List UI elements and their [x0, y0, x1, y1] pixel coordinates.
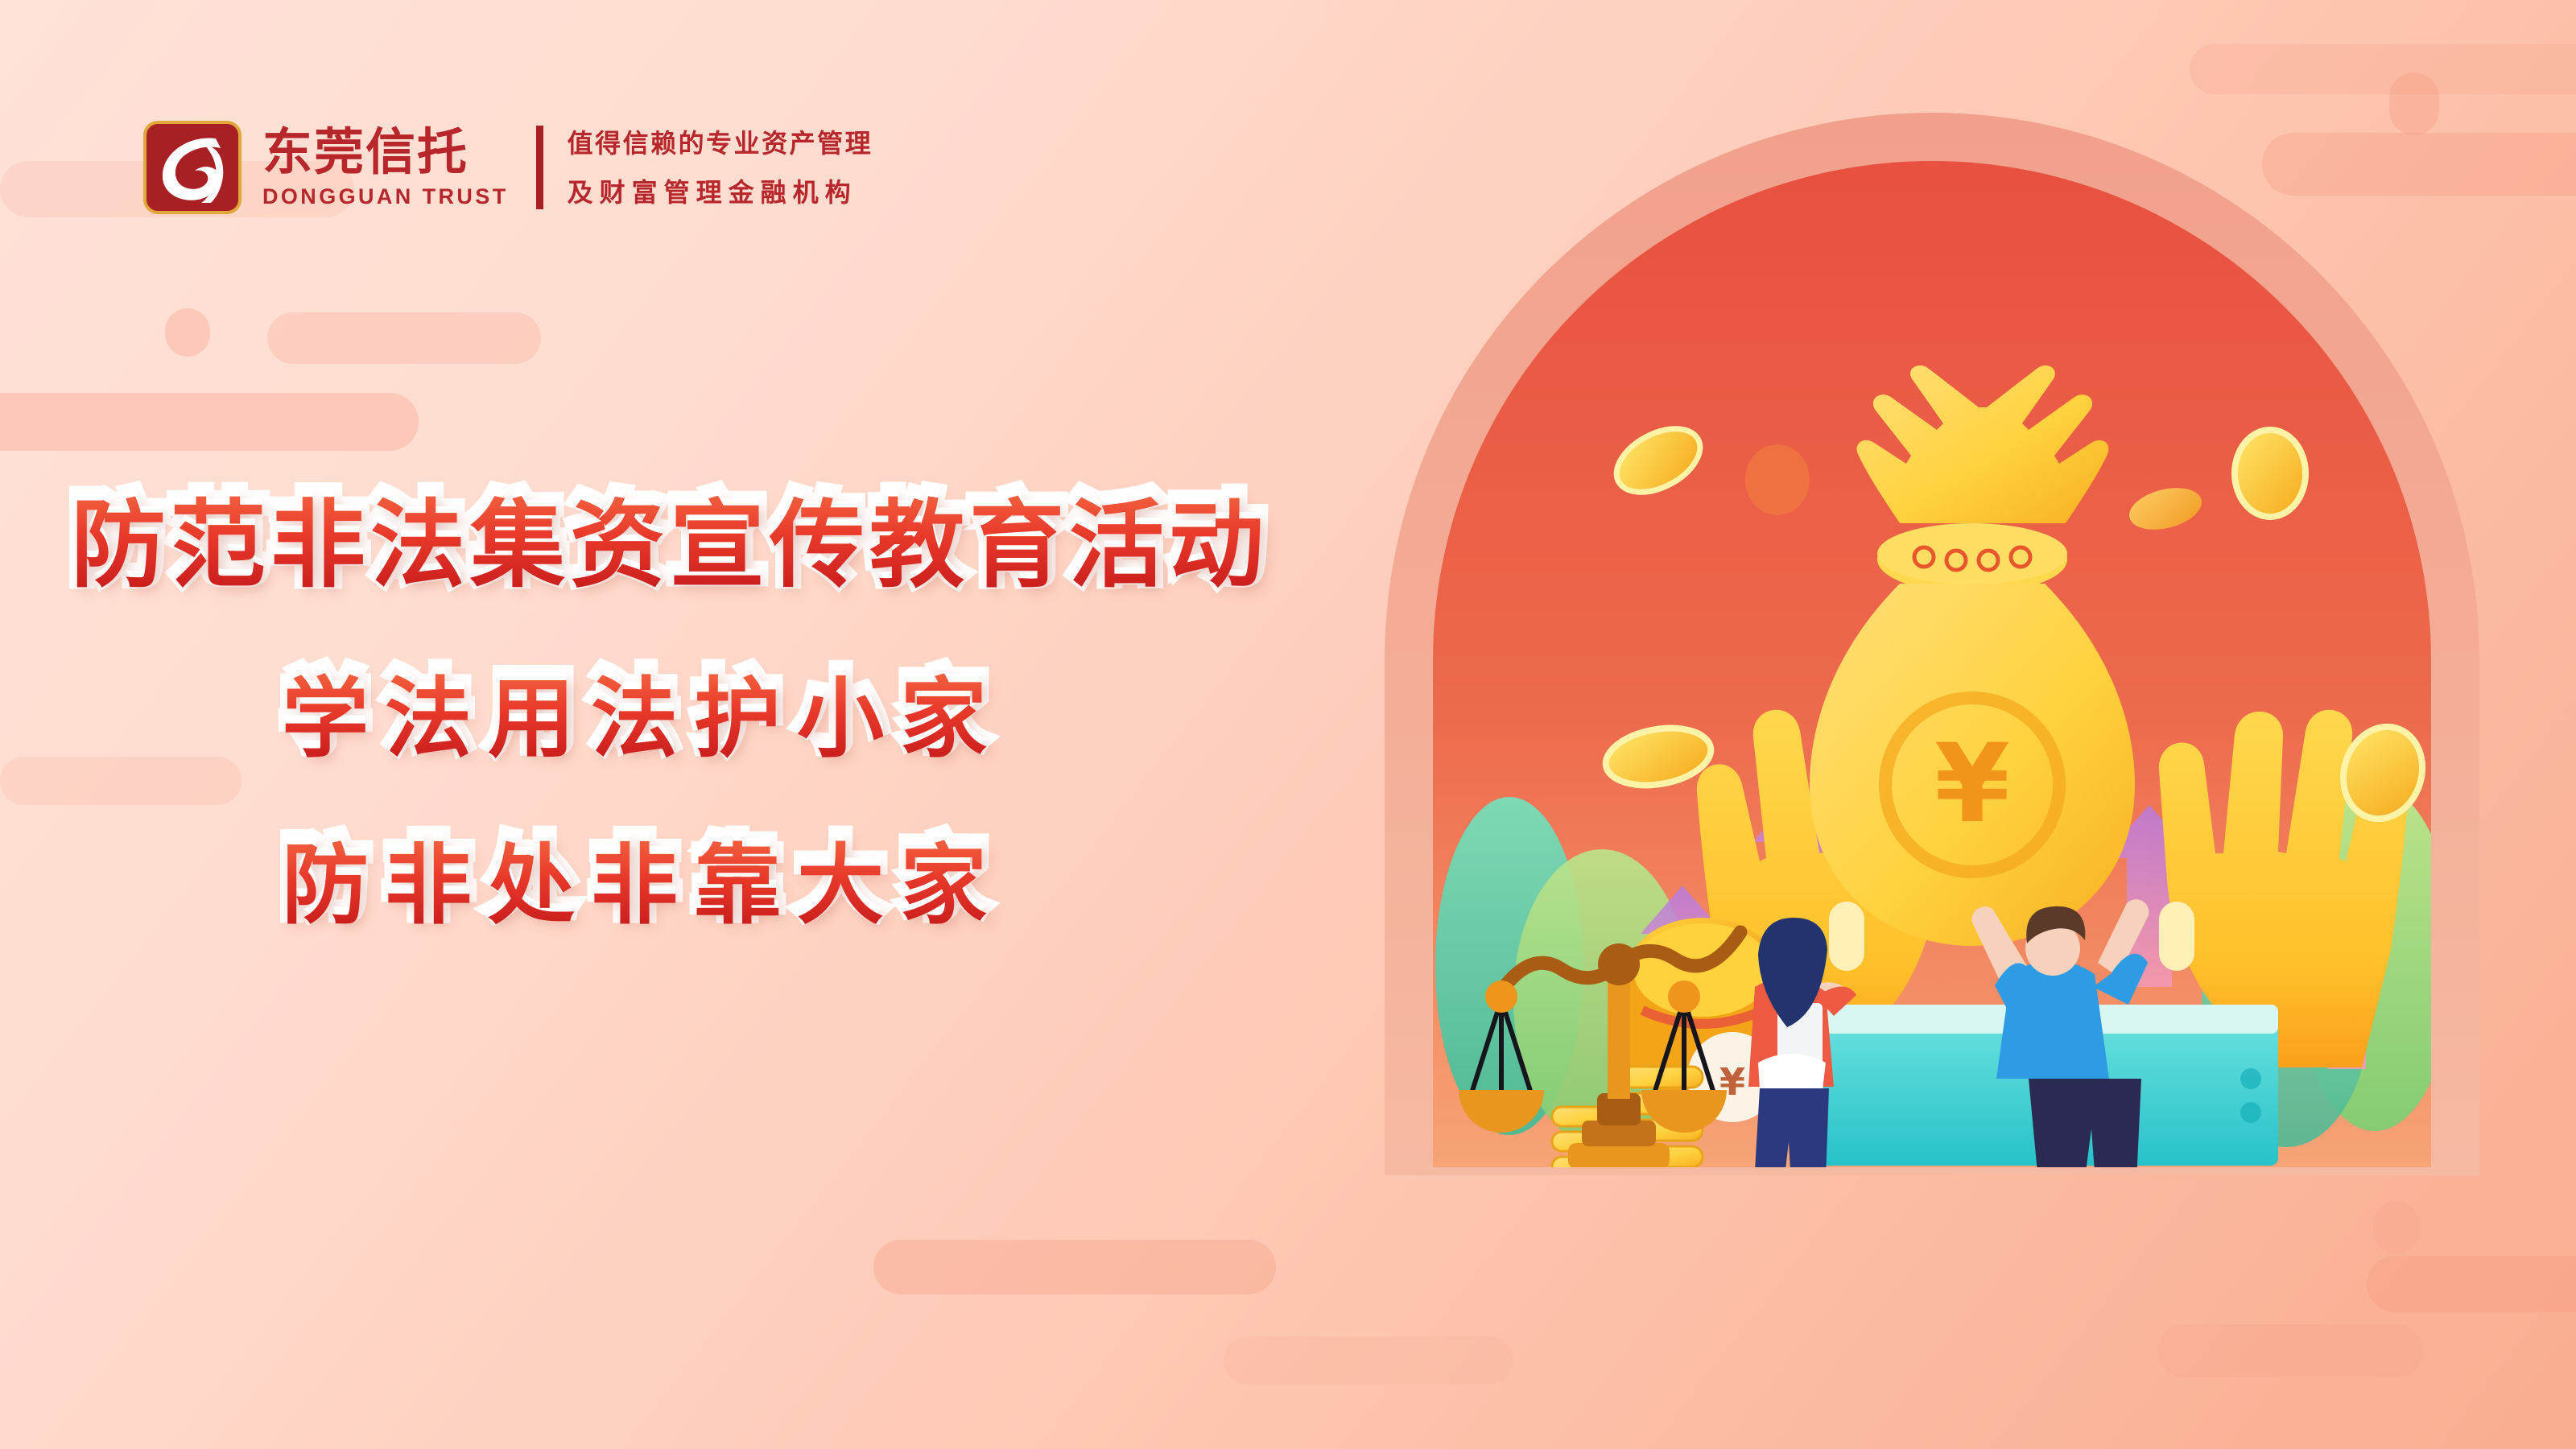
- deco-pill: [873, 1240, 1276, 1294]
- deco-pill: [0, 393, 419, 451]
- promo-banner: ¥ ¥: [0, 0, 2576, 1449]
- tagline-line-1: 值得信赖的专业资产管理: [568, 130, 873, 156]
- headline-line-2: 学法用法护小家: [282, 669, 1003, 770]
- tagline-line-2: 及财富管理金融机构: [568, 180, 873, 205]
- brand-divider: [536, 126, 543, 209]
- brand-name-en: DONGGUAN TRUST: [262, 186, 509, 208]
- headline-group: 防范非法集资宣传教育活动 防范非法集资宣传教育活动 学法用法护小家 学法用法护小…: [0, 491, 1368, 935]
- deco-pill: [2190, 44, 2576, 94]
- headline-line-1: 防范非法集资宣传教育活动: [71, 489, 1269, 601]
- anti-illegal-fundraising-illustration: ¥ ¥: [1336, 97, 2528, 1352]
- headline-row-2: 学法用法护小家 学法用法护小家: [0, 668, 1368, 769]
- brand-tagline: 值得信赖的专业资产管理 及财富管理金融机构: [568, 130, 873, 205]
- headline-row-3: 防非处非靠大家 防非处非靠大家: [0, 835, 1368, 935]
- brand-logo: 东莞信托 DONGGUAN TRUST 值得信赖的专业资产管理 及财富管理金融机…: [143, 121, 873, 214]
- dongguan-trust-logo-mark-icon: [143, 121, 242, 214]
- svg-text:¥: ¥: [1934, 720, 2010, 847]
- deco-pill: [267, 312, 541, 364]
- headline-row-1: 防范非法集资宣传教育活动 防范非法集资宣传教育活动: [0, 491, 1368, 601]
- deco-dot: [165, 308, 210, 357]
- headline-line-3: 防非处非靠大家: [282, 836, 1003, 936]
- brand-name-cn: 东莞信托: [262, 127, 509, 177]
